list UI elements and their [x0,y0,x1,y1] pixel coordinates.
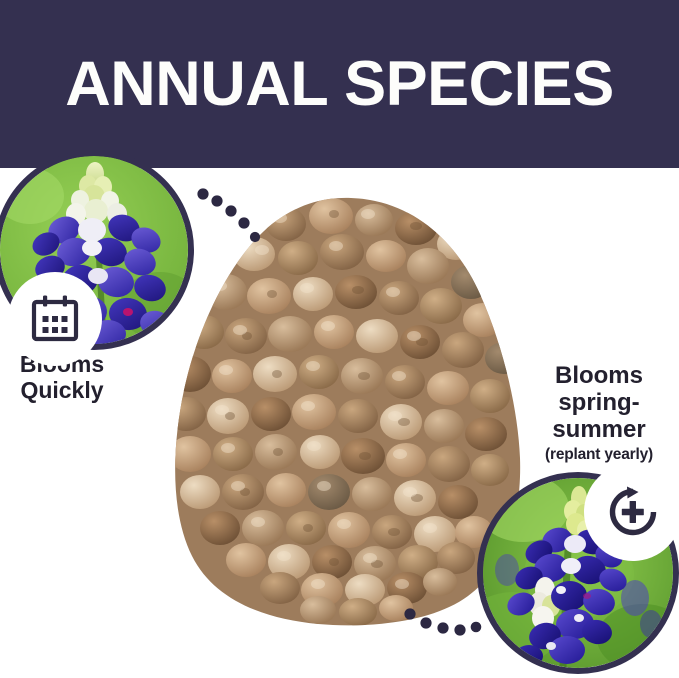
label-spring-summer-line-1: Blooms [523,363,675,390]
page-title: ANNUAL SPECIES [0,0,679,168]
annual-species-infographic: ANNUAL SPECIES [0,0,679,678]
label-spring-summer-line-2: spring- [523,390,675,417]
label-blooms-spring-summer: Blooms spring- summer (replant yearly) [523,363,675,463]
replant-refresh-plus-icon [605,484,661,540]
calendar-icon [30,294,80,344]
calendar-icon-bubble [8,272,102,366]
label-replant-yearly: (replant yearly) [523,446,675,463]
label-spring-summer-line-3: summer [523,417,675,444]
replant-icon-bubble [584,463,679,561]
label-blooms-quickly-line-2: Quickly [0,378,124,404]
plus-glyph [622,501,644,523]
